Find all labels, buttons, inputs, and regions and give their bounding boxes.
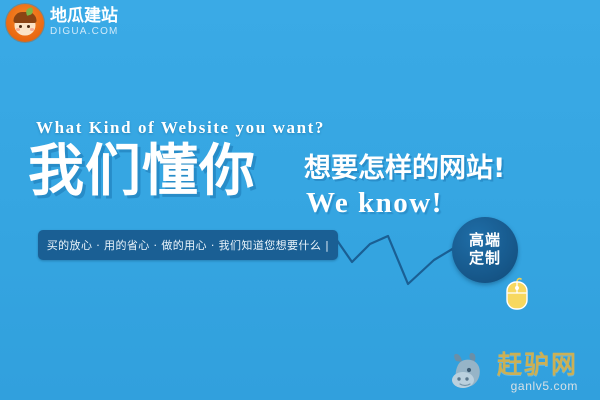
premium-custom-badge[interactable]: 高端 定制 (452, 217, 518, 283)
promo-banner: 地瓜建站 DIGUA.COM What Kind of Website you … (0, 0, 600, 400)
hero-headline: 我们懂你 (28, 144, 256, 200)
tagline-text: 买的放心 · 用的省心 · 做的用心 · 我们知道您想要什么 | (47, 237, 329, 253)
logo-domain: DIGUA.COM (50, 27, 119, 37)
mascot-cheek-right (30, 28, 34, 31)
site-logo[interactable]: 地瓜建站 DIGUA.COM (6, 4, 119, 42)
logo-text-group: 地瓜建站 DIGUA.COM (50, 8, 119, 39)
watermark: 赶驴网 ganlv5.com (448, 348, 596, 396)
tagline-panel: 买的放心 · 用的省心 · 做的用心 · 我们知道您想要什么 | (38, 230, 338, 260)
watermark-text-group: 赶驴网 ganlv5.com (497, 352, 578, 392)
mascot-icon (6, 4, 44, 42)
hero-eyebrow: What Kind of Website you want? (36, 118, 325, 138)
donkey-head-icon (448, 351, 492, 393)
computer-mouse-icon (504, 277, 530, 311)
watermark-title: 赶驴网 (497, 352, 578, 377)
mascot-cheek-left (16, 28, 20, 31)
watermark-domain: ganlv5.com (497, 380, 578, 392)
hero-subheadline-cn: 想要怎样的网站! (304, 155, 505, 182)
hero-subheadline-en: We know! (306, 189, 443, 218)
badge-line-1: 高端 (469, 232, 501, 250)
badge-line-2: 定制 (469, 250, 501, 268)
mascot-hair (14, 12, 37, 23)
logo-title-cn: 地瓜建站 (50, 8, 119, 25)
